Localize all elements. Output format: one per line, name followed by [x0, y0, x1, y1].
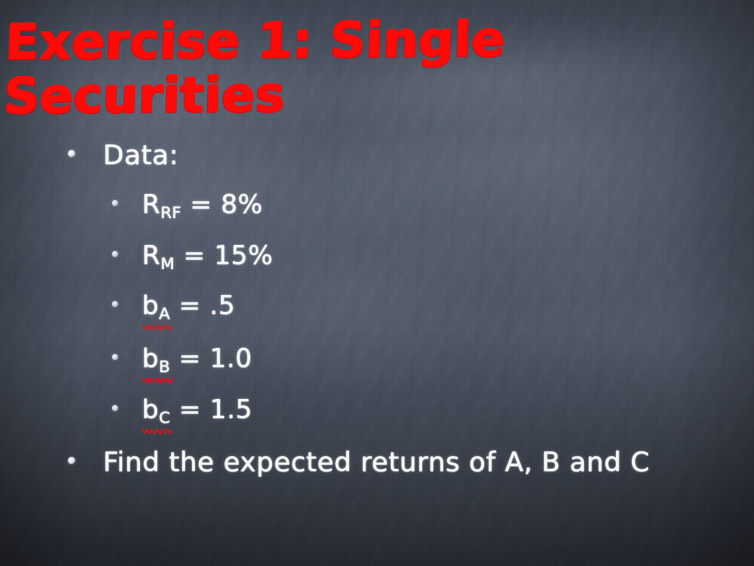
value-risk-free-rate: 8% — [221, 190, 263, 220]
relation-equals: = — [170, 395, 210, 425]
formula-beta-c: bC = 1.5 — [142, 395, 252, 425]
symbol-r: R — [142, 241, 160, 271]
symbol-b: b — [142, 291, 159, 321]
formula-risk-free-rate: RRF = 8% — [142, 190, 263, 220]
relation-equals: = — [175, 241, 215, 271]
value-market-return: 15% — [214, 241, 273, 271]
bullet-item-risk-free-rate: RRF = 8% — [112, 190, 263, 220]
bullet-dot-icon — [112, 405, 118, 411]
bullet-item-market-return: RM = 15% — [112, 241, 273, 271]
bullet-dot-icon — [68, 150, 75, 157]
value-beta-a: .5 — [210, 291, 236, 321]
spellcheck-squiggle-beta-c: bC — [142, 395, 170, 425]
bullet-label: Data: — [103, 140, 179, 171]
subscript-c: C — [159, 408, 170, 427]
bullet-dot-icon — [112, 354, 118, 360]
slide-canvas: Exercise 1: Single Securities Data: RRF … — [0, 0, 754, 566]
subscript-m: M — [160, 254, 174, 273]
spellcheck-squiggle-beta-a: bA — [142, 291, 170, 321]
formula-beta-a: bA = .5 — [142, 291, 235, 321]
bullet-item-beta-a: bA = .5 — [112, 291, 235, 321]
bullet-dot-icon — [112, 251, 118, 257]
relation-equals: = — [170, 344, 210, 374]
formula-beta-b: bB = 1.0 — [142, 344, 252, 374]
value-beta-c: 1.5 — [210, 395, 253, 425]
bullet-label: Find the expected returns of A, B and C — [103, 447, 650, 478]
spellcheck-squiggle-beta-b: bB — [142, 344, 170, 374]
symbol-b: b — [142, 344, 159, 374]
bullet-item-beta-b: bB = 1.0 — [112, 344, 252, 374]
subscript-b: B — [159, 357, 170, 376]
subscript-a: A — [159, 304, 170, 323]
formula-market-return: RM = 15% — [142, 241, 273, 271]
relation-equals: = — [181, 190, 221, 220]
bullet-item-beta-c: bC = 1.5 — [112, 395, 252, 425]
bullet-dot-icon — [112, 200, 118, 206]
value-beta-b: 1.0 — [210, 344, 253, 374]
slide-content: Exercise 1: Single Securities Data: RRF … — [0, 0, 754, 566]
symbol-b: b — [142, 395, 159, 425]
relation-equals: = — [170, 291, 210, 321]
bullet-dot-icon — [112, 301, 118, 307]
symbol-r: R — [142, 190, 160, 220]
bullet-dot-icon — [68, 457, 75, 464]
bullet-item-data: Data: — [68, 140, 179, 171]
subscript-rf: RF — [160, 203, 181, 222]
slide-title: Exercise 1: Single Securities — [3, 13, 566, 124]
bullet-item-task: Find the expected returns of A, B and C — [68, 447, 650, 478]
